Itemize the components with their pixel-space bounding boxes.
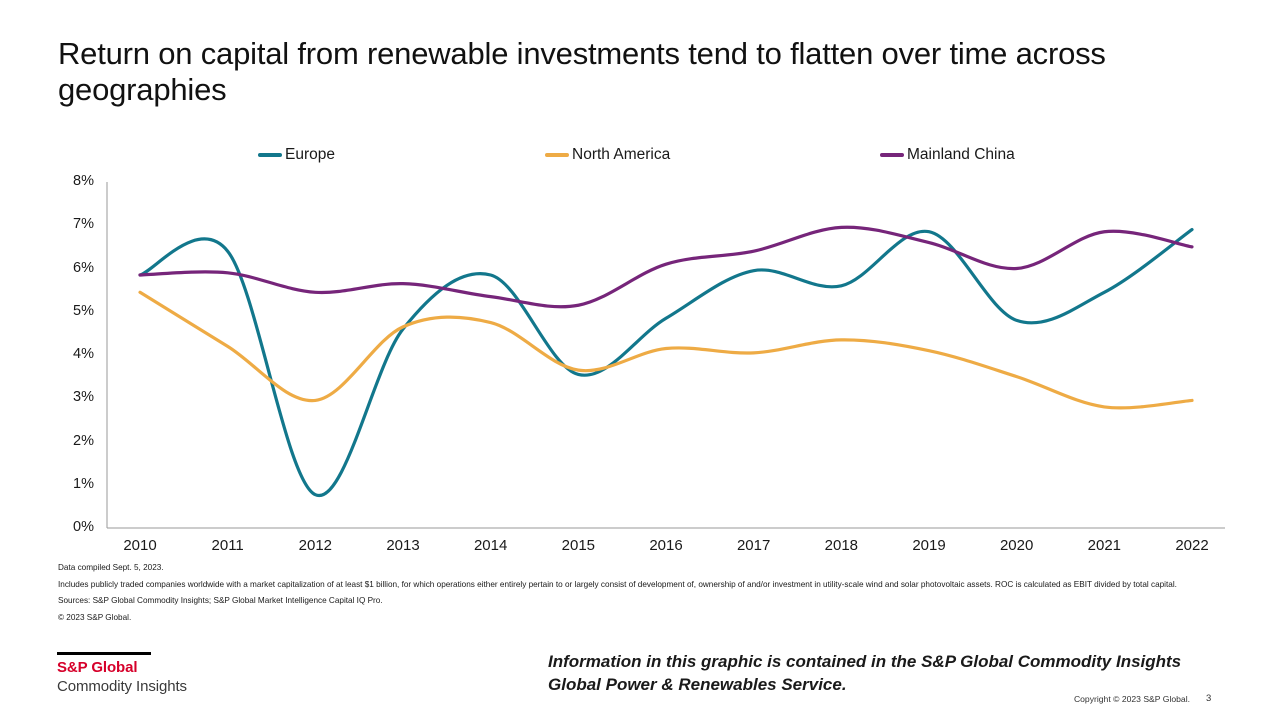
page-title: Return on capital from renewable investm… — [58, 36, 1188, 108]
y-axis-tick-label: 4% — [48, 346, 94, 362]
legend-swatch-icon — [258, 153, 282, 157]
chart-series-layer — [140, 227, 1192, 495]
chart-axes — [107, 182, 1225, 528]
sp-global-logo: S&P Global Commodity Insights — [57, 652, 287, 696]
footnote-sources: Sources: S&P Global Commodity Insights; … — [58, 595, 1233, 607]
y-axis-tick-label: 5% — [48, 303, 94, 319]
x-axis-tick-label: 2010 — [105, 537, 175, 554]
legend-label: North America — [571, 146, 670, 164]
line-chart: 8%7%6%5%4%3%2%1%0% 201020112012201320142… — [0, 175, 1240, 535]
x-axis-tick-label: 2021 — [1069, 537, 1139, 554]
y-axis-tick-label: 0% — [48, 519, 94, 535]
y-axis-tick-label: 3% — [48, 389, 94, 405]
x-axis-tick-label: 2022 — [1157, 537, 1227, 554]
legend-swatch-icon — [545, 153, 569, 157]
x-axis-tick-label: 2013 — [368, 537, 438, 554]
chart-canvas — [0, 175, 1240, 535]
x-axis-tick-label: 2018 — [806, 537, 876, 554]
copyright-notice: Copyright © 2023 S&P Global. — [900, 694, 1190, 704]
series-line-mainland-china — [140, 227, 1192, 307]
y-axis-tick-label: 6% — [48, 260, 94, 276]
x-axis-tick-label: 2015 — [543, 537, 613, 554]
x-axis-tick-label: 2017 — [719, 537, 789, 554]
series-line-north-america — [140, 292, 1192, 408]
y-axis-tick-label: 7% — [48, 216, 94, 232]
x-axis-tick-label: 2011 — [193, 537, 263, 554]
legend-label: Europe — [284, 146, 335, 164]
legend-swatch-icon — [880, 153, 904, 157]
footnote-data-compiled: Data compiled Sept. 5, 2023. — [58, 562, 1233, 574]
x-axis-tick-label: 2014 — [456, 537, 526, 554]
legend-item-north-america[interactable]: North America — [545, 146, 670, 164]
footnotes: Data compiled Sept. 5, 2023. Includes pu… — [58, 562, 1233, 628]
y-axis-tick-label: 2% — [48, 433, 94, 449]
legend-label: Mainland China — [906, 146, 1015, 164]
x-axis-tick-label: 2016 — [631, 537, 701, 554]
legend-item-mainland-china[interactable]: Mainland China — [880, 146, 1015, 164]
footnote-copyright: © 2023 S&P Global. — [58, 612, 1233, 624]
callout-text: Information in this graphic is contained… — [548, 650, 1228, 696]
x-axis-tick-label: 2012 — [280, 537, 350, 554]
x-axis-tick-label: 2020 — [982, 537, 1052, 554]
y-axis-tick-label: 1% — [48, 476, 94, 492]
legend-item-europe[interactable]: Europe — [258, 146, 335, 164]
x-axis-tick-label: 2019 — [894, 537, 964, 554]
logo-secondary-text: Commodity Insights — [57, 677, 287, 696]
series-line-europe — [140, 230, 1192, 496]
logo-primary-text: S&P Global — [57, 659, 287, 677]
y-axis-tick-label: 8% — [48, 173, 94, 189]
logo-rule-icon — [57, 652, 151, 655]
chart-legend: Europe North America Mainland China — [258, 146, 1088, 170]
footnote-methodology: Includes publicly traded companies world… — [58, 579, 1230, 591]
page-number: 3 — [1206, 693, 1211, 704]
